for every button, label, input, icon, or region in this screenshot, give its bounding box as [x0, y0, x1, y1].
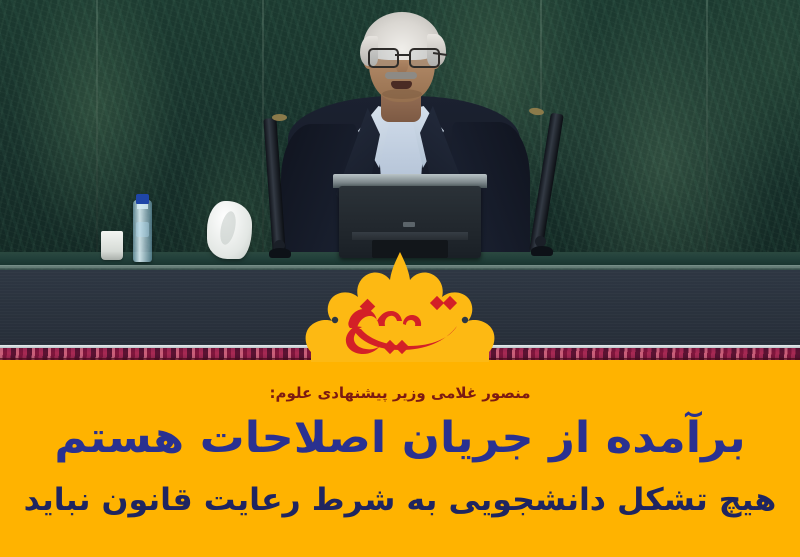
- mouth: [391, 81, 412, 89]
- chin-shadow: [382, 89, 422, 99]
- lens-left: [368, 48, 399, 68]
- lens-right: [409, 48, 440, 68]
- monitor-chin: [352, 232, 468, 240]
- paper-cup: [101, 231, 123, 260]
- tasnim-logo[interactable]: [293, 250, 507, 362]
- microphone-base-left: [269, 248, 291, 258]
- microphone-base-right: [531, 246, 553, 256]
- headline-text: برآمده از جریان اصلاحات هستم: [0, 416, 800, 462]
- water-bottle: [133, 200, 152, 262]
- subheadline-text: هیچ تشکل دانشجویی به شرط رعایت قانون نبا…: [0, 484, 800, 517]
- microphone-cap-left: [272, 114, 287, 121]
- mustache: [385, 72, 417, 79]
- bottle-cap: [136, 194, 149, 204]
- glasses-bridge: [395, 54, 409, 56]
- news-photo-card: منصور غلامی وزیر پیشنهادی علوم: برآمده ا…: [0, 0, 800, 557]
- tissue-paper: [207, 201, 252, 259]
- eyeglasses-icon: [366, 48, 438, 65]
- monitor-badge: [403, 222, 415, 227]
- caption-band: منصور غلامی وزیر پیشنهادی علوم: برآمده ا…: [0, 360, 800, 557]
- subtitle-text: منصور غلامی وزیر پیشنهادی علوم:: [0, 384, 800, 402]
